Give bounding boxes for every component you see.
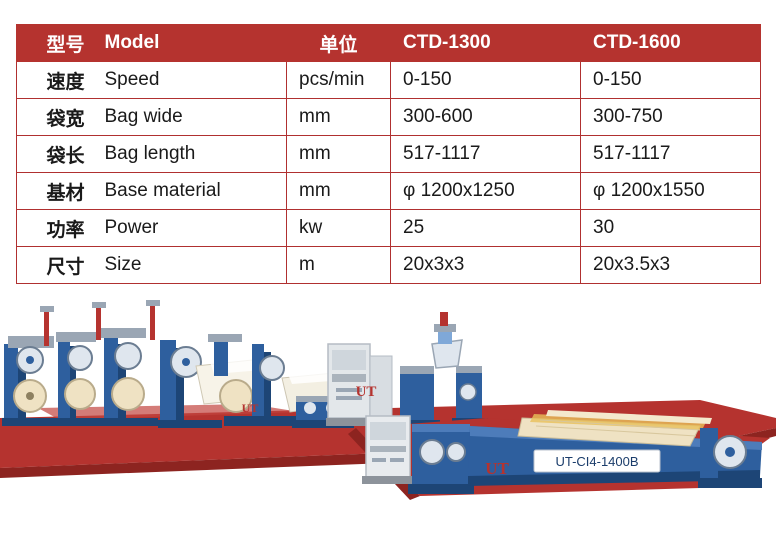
row-value-1300: 0-150 bbox=[391, 62, 581, 99]
row-value-1600: 20x3.5x3 bbox=[581, 247, 761, 284]
row-label-cn: 尺寸 bbox=[17, 247, 95, 284]
row-unit: mm bbox=[287, 173, 391, 210]
svg-text:UT: UT bbox=[242, 401, 259, 415]
row-value-1300: 517-1117 bbox=[391, 136, 581, 173]
row-value-1300: 300-600 bbox=[391, 99, 581, 136]
table-row: 袋宽 Bag wide mm 300-600 300-750 bbox=[17, 99, 761, 136]
row-label-en: Base material bbox=[95, 173, 287, 210]
header-unit: 单位 bbox=[287, 25, 391, 62]
row-label-en: Speed bbox=[95, 62, 287, 99]
table-row: 基材 Base material mm φ 1200x1250 φ 1200x1… bbox=[17, 173, 761, 210]
brand-mark-1: UT bbox=[356, 384, 377, 400]
row-unit: pcs/min bbox=[287, 62, 391, 99]
svg-text:UT: UT bbox=[485, 459, 509, 478]
row-label-en: Power bbox=[95, 210, 287, 247]
table-body: 速度 Speed pcs/min 0-150 0-150 袋宽 Bag wide… bbox=[17, 62, 761, 284]
header-ctd-1300: CTD-1300 bbox=[391, 25, 581, 62]
machine-nameplate-label: UT-CI4-1400B bbox=[555, 454, 638, 469]
specification-table: 型号 Model 单位 CTD-1300 CTD-1600 速度 Speed p… bbox=[16, 24, 761, 284]
table-header: 型号 Model 单位 CTD-1300 CTD-1600 bbox=[17, 25, 761, 62]
header-model-en: Model bbox=[95, 25, 287, 62]
specification-table-container: 型号 Model 单位 CTD-1300 CTD-1600 速度 Speed p… bbox=[16, 24, 760, 284]
header-ctd-1600: CTD-1600 bbox=[581, 25, 761, 62]
table-row: 速度 Speed pcs/min 0-150 0-150 bbox=[17, 62, 761, 99]
row-unit: kw bbox=[287, 210, 391, 247]
row-value-1600: 30 bbox=[581, 210, 761, 247]
row-value-1600: 300-750 bbox=[581, 99, 761, 136]
brand-mark-3: UT bbox=[242, 401, 259, 415]
row-unit: mm bbox=[287, 99, 391, 136]
row-unit: m bbox=[287, 247, 391, 284]
row-value-1300: 20x3x3 bbox=[391, 247, 581, 284]
row-value-1600: 0-150 bbox=[581, 62, 761, 99]
machine-line-illustration: UT-CI4-1400B UT UT UT bbox=[0, 300, 776, 548]
table-header-row: 型号 Model 单位 CTD-1300 CTD-1600 bbox=[17, 25, 761, 62]
table-row: 尺寸 Size m 20x3x3 20x3.5x3 bbox=[17, 247, 761, 284]
row-label-cn: 袋宽 bbox=[17, 99, 95, 136]
table-row: 功率 Power kw 25 30 bbox=[17, 210, 761, 247]
row-label-cn: 袋长 bbox=[17, 136, 95, 173]
row-value-1300: φ 1200x1250 bbox=[391, 173, 581, 210]
row-value-1600: φ 1200x1550 bbox=[581, 173, 761, 210]
row-value-1300: 25 bbox=[391, 210, 581, 247]
svg-text:UT: UT bbox=[356, 384, 377, 400]
row-label-en: Bag length bbox=[95, 136, 287, 173]
row-label-cn: 基材 bbox=[17, 173, 95, 210]
row-value-1600: 517-1117 bbox=[581, 136, 761, 173]
table-row: 袋长 Bag length mm 517-1117 517-1117 bbox=[17, 136, 761, 173]
row-label-cn: 速度 bbox=[17, 62, 95, 99]
row-unit: mm bbox=[287, 136, 391, 173]
header-model-cn: 型号 bbox=[17, 25, 95, 62]
row-label-cn: 功率 bbox=[17, 210, 95, 247]
row-label-en: Bag wide bbox=[95, 99, 287, 136]
brand-mark-2: UT bbox=[485, 459, 509, 478]
row-label-en: Size bbox=[95, 247, 287, 284]
